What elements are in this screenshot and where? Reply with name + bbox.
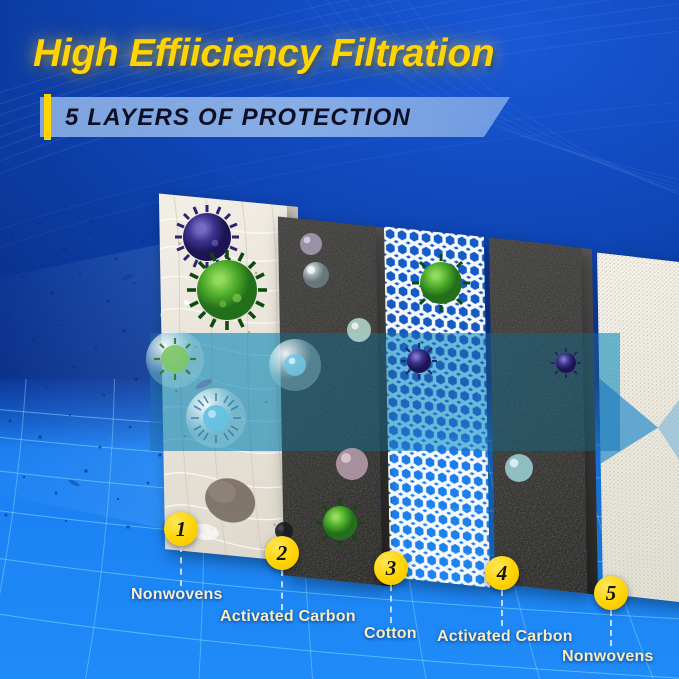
layer-4-panel [489, 237, 587, 593]
layer-badge-4[interactable]: 4 [485, 556, 519, 590]
leader-line-1 [180, 546, 182, 586]
layer-1-panel [159, 194, 293, 562]
page-title: High Effiiciency Filtration [33, 32, 494, 76]
leader-line-4 [501, 590, 503, 626]
subtitle-accent-bar [44, 94, 51, 140]
filter-layer-2 [278, 216, 382, 585]
infographic-canvas: High Effiiciency Filtration 5 LAYERS OF … [0, 0, 679, 679]
layer-badge-5[interactable]: 5 [594, 576, 628, 610]
layer-label-3: Cotton [364, 625, 417, 643]
filter-layer-4 [489, 237, 587, 593]
layer-badge-2[interactable]: 2 [265, 536, 299, 570]
layer-badge-3[interactable]: 3 [374, 551, 408, 585]
layer-5-panel [597, 253, 679, 604]
layer-label-5: Nonwovens [562, 648, 654, 666]
layer-2-panel [278, 216, 382, 585]
leader-line-5 [610, 610, 612, 646]
filter-layer-1 [159, 194, 293, 562]
layer-label-1: Nonwovens [131, 586, 223, 604]
layer-label-2: Activated Carbon [220, 608, 356, 626]
leader-line-3 [390, 585, 392, 623]
layer-label-4: Activated Carbon [437, 628, 573, 646]
filter-layer-5 [597, 253, 679, 604]
page-subtitle: 5 LAYERS OF PROTECTION [65, 104, 411, 132]
leader-line-2 [281, 570, 283, 610]
layer-3-panel [384, 226, 490, 587]
filter-layer-3 [384, 226, 490, 587]
layer-badge-1[interactable]: 1 [164, 512, 198, 546]
